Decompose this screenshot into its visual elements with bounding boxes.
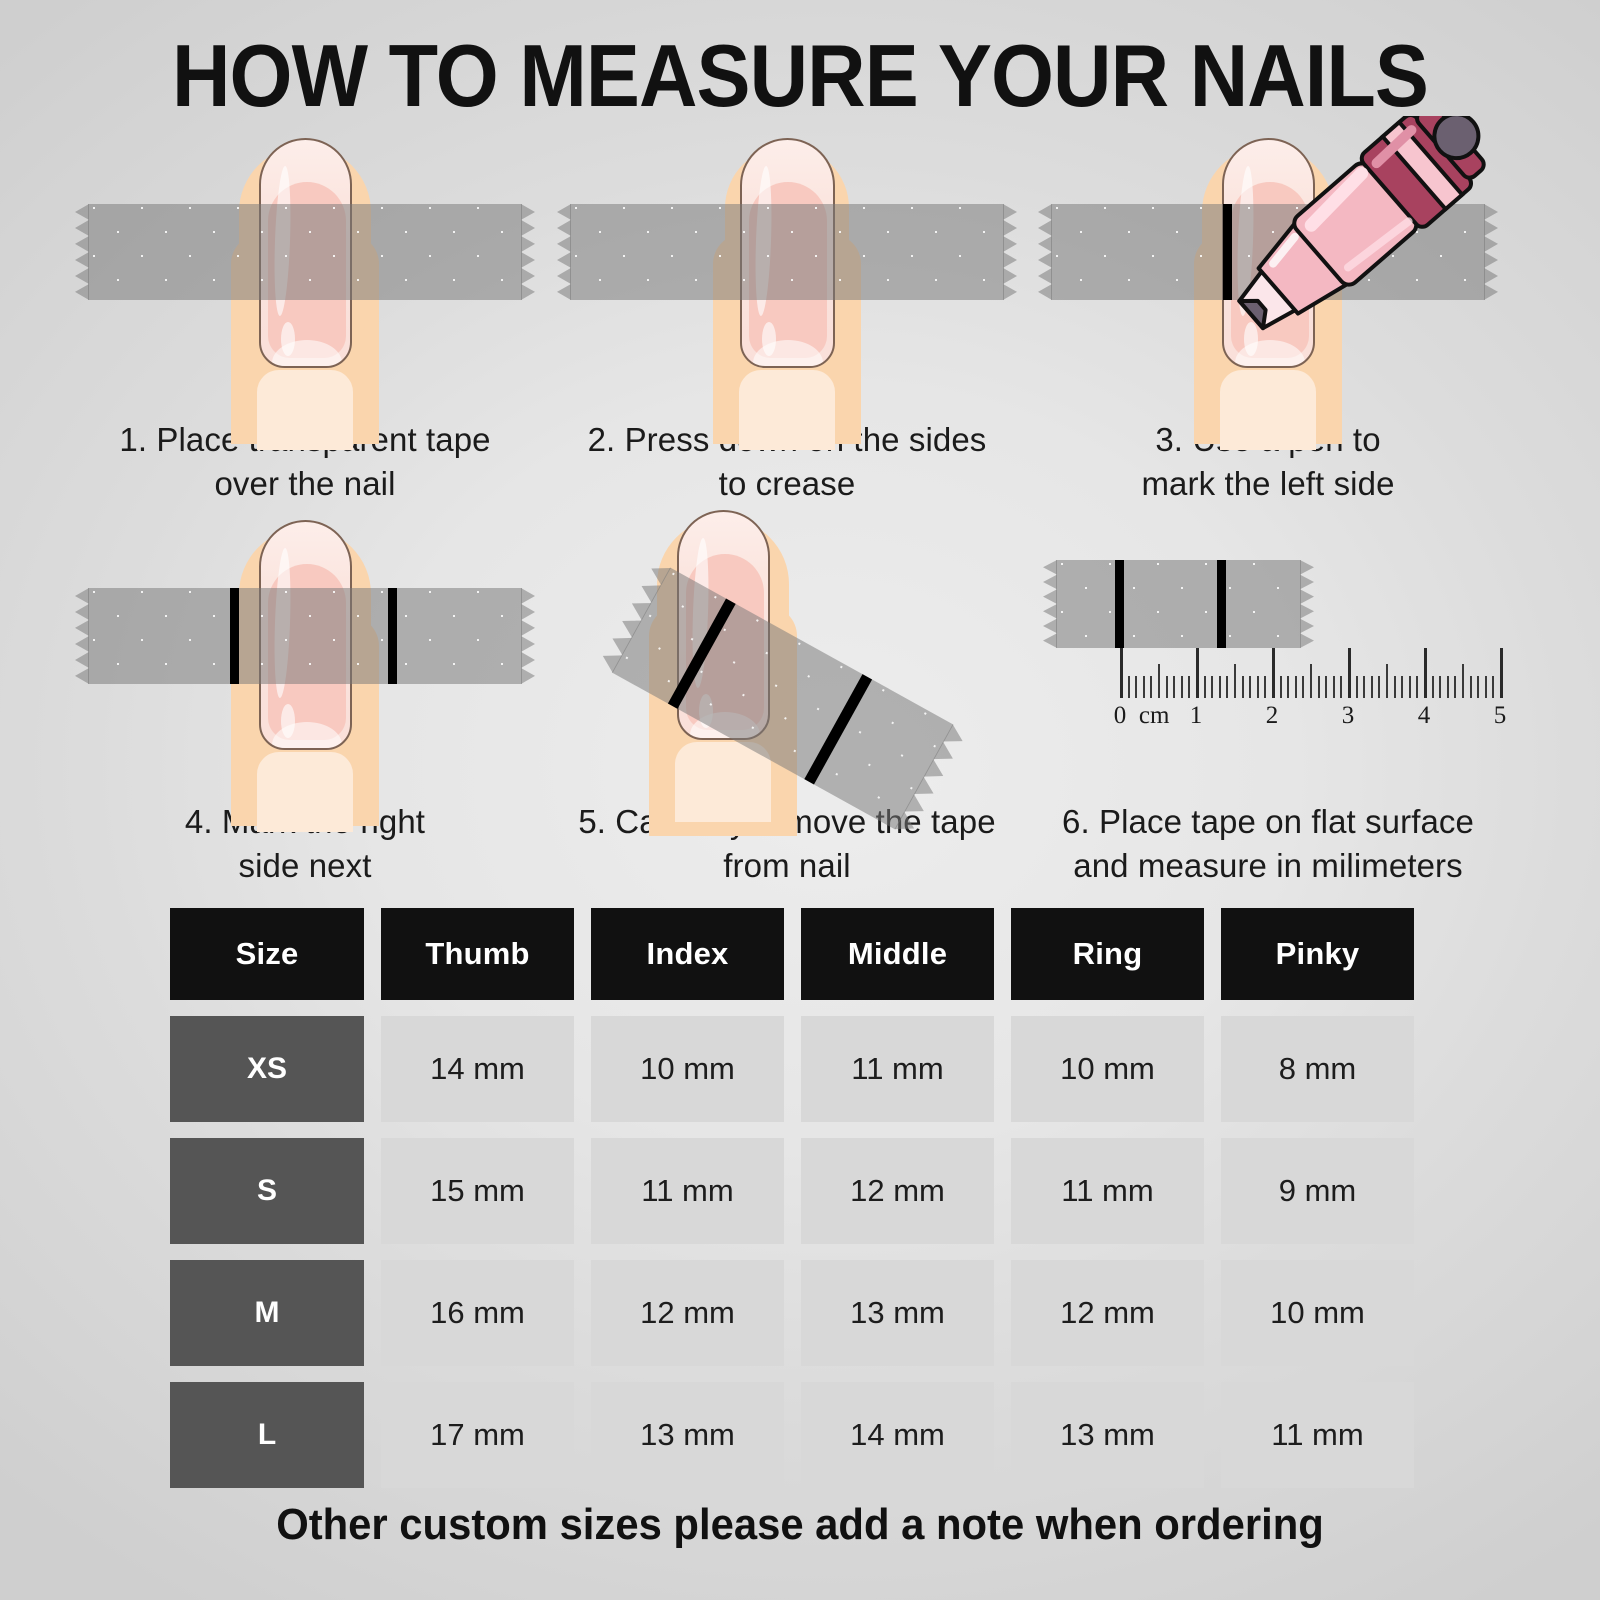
nail-shine-small-icon (281, 704, 295, 738)
table-data-cell: 16 mm (381, 1260, 574, 1366)
finger-knuckle-highlight (257, 370, 353, 450)
tape-strip (1056, 560, 1301, 648)
tape-torn-edge-right-icon (1300, 560, 1314, 648)
tape-torn-edge-right-icon (521, 204, 535, 300)
footer-note: Other custom sizes please add a note whe… (40, 1500, 1560, 1550)
ruler-tick-minor (1325, 676, 1327, 698)
pen-mark-left (230, 588, 239, 684)
step-2-illustration (557, 128, 1017, 418)
tape-texture (1056, 560, 1301, 648)
nail-shine-small-icon (762, 322, 776, 356)
ruler-tick-minor (1219, 676, 1221, 698)
ruler-tick-major (1348, 648, 1351, 698)
ruler-tick-minor (1257, 676, 1259, 698)
table-header-cell: Thumb (381, 908, 574, 1000)
step-1-line-2: over the nail (75, 462, 535, 506)
finger-knuckle-highlight (257, 752, 353, 832)
step-6: 012345cm 6. Place tape on flat surface a… (1038, 510, 1498, 888)
finger-knuckle-highlight (739, 370, 835, 450)
ruler-tick-minor (1492, 676, 1494, 698)
ruler-tick-minor (1340, 676, 1342, 698)
table-body: XS14 mm10 mm11 mm10 mm8 mmS15 mm11 mm12 … (170, 1016, 1435, 1488)
ruler-unit-label: cm (1139, 702, 1170, 730)
step-2-line-2: to crease (557, 462, 1017, 506)
table-row: S15 mm11 mm12 mm11 mm9 mm (170, 1138, 1435, 1244)
table-header-row: SizeThumbIndexMiddleRingPinky (170, 908, 1435, 1000)
ruler-tick-minor (1439, 676, 1441, 698)
ruler-tick-minor (1264, 676, 1266, 698)
ruler-tick-major (1196, 648, 1199, 698)
ruler-tick-minor (1135, 676, 1137, 698)
ruler-tick-minor (1477, 676, 1479, 698)
ruler-label: 2 (1266, 702, 1279, 730)
tape-strip (88, 588, 522, 684)
tape-torn-edge-left-icon (1038, 204, 1052, 300)
ruler-tick-minor (1226, 676, 1228, 698)
table-header-cell: Size (170, 908, 364, 1000)
tape-texture (88, 588, 522, 684)
ruler-ticks (1120, 648, 1500, 698)
ruler-label: 4 (1418, 702, 1431, 730)
tape-strip (570, 204, 1004, 300)
ruler-tick-minor (1318, 676, 1320, 698)
ruler-tick-minor (1249, 676, 1251, 698)
tape-texture (570, 204, 1004, 300)
ruler-tick-minor (1150, 676, 1152, 698)
ruler-label: 3 (1342, 702, 1355, 730)
tape-torn-edge-left-icon (1043, 560, 1057, 648)
step-5-line-2: from nail (557, 844, 1017, 888)
table-data-cell: 13 mm (1011, 1382, 1204, 1488)
ruler-tick-minor (1242, 676, 1244, 698)
ruler-tick-minor (1166, 676, 1168, 698)
pen-mark-right (1217, 560, 1226, 648)
pen-mark-right (388, 588, 397, 684)
step-1-illustration (75, 128, 535, 418)
ruler-tick-major (1120, 648, 1123, 698)
table-data-cell: 11 mm (1011, 1138, 1204, 1244)
ruler-tick-minor (1173, 676, 1175, 698)
ruler-labels: 012345cm (1120, 702, 1500, 742)
ruler-label: 5 (1494, 702, 1507, 730)
table-header-cell: Middle (801, 908, 994, 1000)
tape-torn-edge-right-icon (1003, 204, 1017, 300)
ruler-label: 0 (1114, 702, 1127, 730)
step-5: 5. Carefully remove the tape from nail (557, 510, 1017, 888)
ruler-tick-minor (1181, 676, 1183, 698)
nail-shine-small-icon (281, 322, 295, 356)
ruler-tick-minor (1204, 676, 1206, 698)
table-data-cell: 12 mm (591, 1260, 784, 1366)
table-data-cell: 11 mm (801, 1016, 994, 1122)
table-data-cell: 17 mm (381, 1382, 574, 1488)
ruler-tick-minor (1454, 676, 1456, 698)
step-3-line-2: mark the left side (1038, 462, 1498, 506)
tape-torn-edge-left-icon (75, 588, 89, 684)
finger-knuckle-highlight (1220, 370, 1316, 450)
table-data-cell: 10 mm (1011, 1016, 1204, 1122)
table-header-cell: Ring (1011, 908, 1204, 1000)
table-data-cell: 12 mm (1011, 1260, 1204, 1366)
tape-torn-edge-right-icon (521, 588, 535, 684)
step-3: 3. Use a pen to mark the left side (1038, 128, 1498, 506)
table-data-cell: 14 mm (801, 1382, 994, 1488)
table-data-cell: 10 mm (591, 1016, 784, 1122)
ruler-tick-minor (1280, 676, 1282, 698)
ruler: 012345cm (1120, 648, 1500, 768)
ruler-tick-minor (1371, 676, 1373, 698)
table-row: L17 mm13 mm14 mm13 mm11 mm (170, 1382, 1435, 1488)
table-data-cell: 13 mm (591, 1382, 784, 1488)
step-6-caption: 6. Place tape on flat surface and measur… (1038, 800, 1498, 888)
ruler-tick-minor (1485, 676, 1487, 698)
tape-strip (88, 204, 522, 300)
ruler-tick-major (1500, 648, 1503, 698)
ruler-tick-minor (1409, 676, 1411, 698)
step-3-illustration (1038, 128, 1498, 418)
tape-torn-edge-left-icon (75, 204, 89, 300)
ruler-tick-half (1310, 664, 1312, 698)
pen-icon (1198, 116, 1508, 336)
table-data-cell: 11 mm (591, 1138, 784, 1244)
step-4: 4. Mark the right side next (75, 510, 535, 888)
ruler-tick-minor (1295, 676, 1297, 698)
table-data-cell: 11 mm (1221, 1382, 1414, 1488)
ruler-tick-minor (1432, 676, 1434, 698)
table-data-cell: 8 mm (1221, 1016, 1414, 1122)
step-6-line-2: and measure in milimeters (1038, 844, 1498, 888)
step-4-line-2: side next (75, 844, 535, 888)
ruler-tick-half (1462, 664, 1464, 698)
tape-torn-edge-left-icon (557, 204, 571, 300)
table-row: M16 mm12 mm13 mm12 mm10 mm (170, 1260, 1435, 1366)
infographic-page: HOW TO MEASURE YOUR NAILS 1. (0, 0, 1600, 1600)
table-data-cell: 14 mm (381, 1016, 574, 1122)
ruler-tick-minor (1188, 676, 1190, 698)
ruler-tick-minor (1378, 676, 1380, 698)
ruler-label: 1 (1190, 702, 1203, 730)
table-size-cell: M (170, 1260, 364, 1366)
table-data-cell: 13 mm (801, 1260, 994, 1366)
step-2: 2. Press down on the sides to crease (557, 128, 1017, 506)
ruler-tick-minor (1401, 676, 1403, 698)
table-header-cell: Pinky (1221, 908, 1414, 1000)
table-size-cell: XS (170, 1016, 364, 1122)
step-5-illustration (557, 510, 1017, 800)
ruler-tick-minor (1363, 676, 1365, 698)
step-6-illustration: 012345cm (1038, 510, 1498, 800)
finger-knuckle-highlight (675, 742, 771, 822)
ruler-tick-minor (1394, 676, 1396, 698)
ruler-tick-major (1272, 648, 1275, 698)
table-row: XS14 mm10 mm11 mm10 mm8 mm (170, 1016, 1435, 1122)
tape-texture (88, 204, 522, 300)
table-header-cell: Index (591, 908, 784, 1000)
size-chart-table: SizeThumbIndexMiddleRingPinky XS14 mm10 … (170, 908, 1435, 1504)
ruler-tick-half (1386, 664, 1388, 698)
page-title: HOW TO MEASURE YOUR NAILS (64, 28, 1536, 124)
ruler-tick-minor (1211, 676, 1213, 698)
step-1: 1. Place transparent tape over the nail (75, 128, 535, 506)
table-size-cell: S (170, 1138, 364, 1244)
ruler-tick-minor (1287, 676, 1289, 698)
ruler-tick-minor (1333, 676, 1335, 698)
ruler-tick-minor (1470, 676, 1472, 698)
table-data-cell: 15 mm (381, 1138, 574, 1244)
ruler-tick-half (1158, 664, 1160, 698)
ruler-tick-minor (1416, 676, 1418, 698)
table-size-cell: L (170, 1382, 364, 1488)
ruler-tick-minor (1447, 676, 1449, 698)
table-data-cell: 10 mm (1221, 1260, 1414, 1366)
ruler-tick-minor (1302, 676, 1304, 698)
step-6-line-1: 6. Place tape on flat surface (1038, 800, 1498, 844)
step-4-illustration (75, 510, 535, 800)
table-data-cell: 9 mm (1221, 1138, 1414, 1244)
ruler-tick-major (1424, 648, 1427, 698)
ruler-tick-minor (1356, 676, 1358, 698)
table-data-cell: 12 mm (801, 1138, 994, 1244)
ruler-tick-minor (1128, 676, 1130, 698)
ruler-tick-minor (1143, 676, 1145, 698)
pen-mark-left (1115, 560, 1124, 648)
ruler-tick-half (1234, 664, 1236, 698)
